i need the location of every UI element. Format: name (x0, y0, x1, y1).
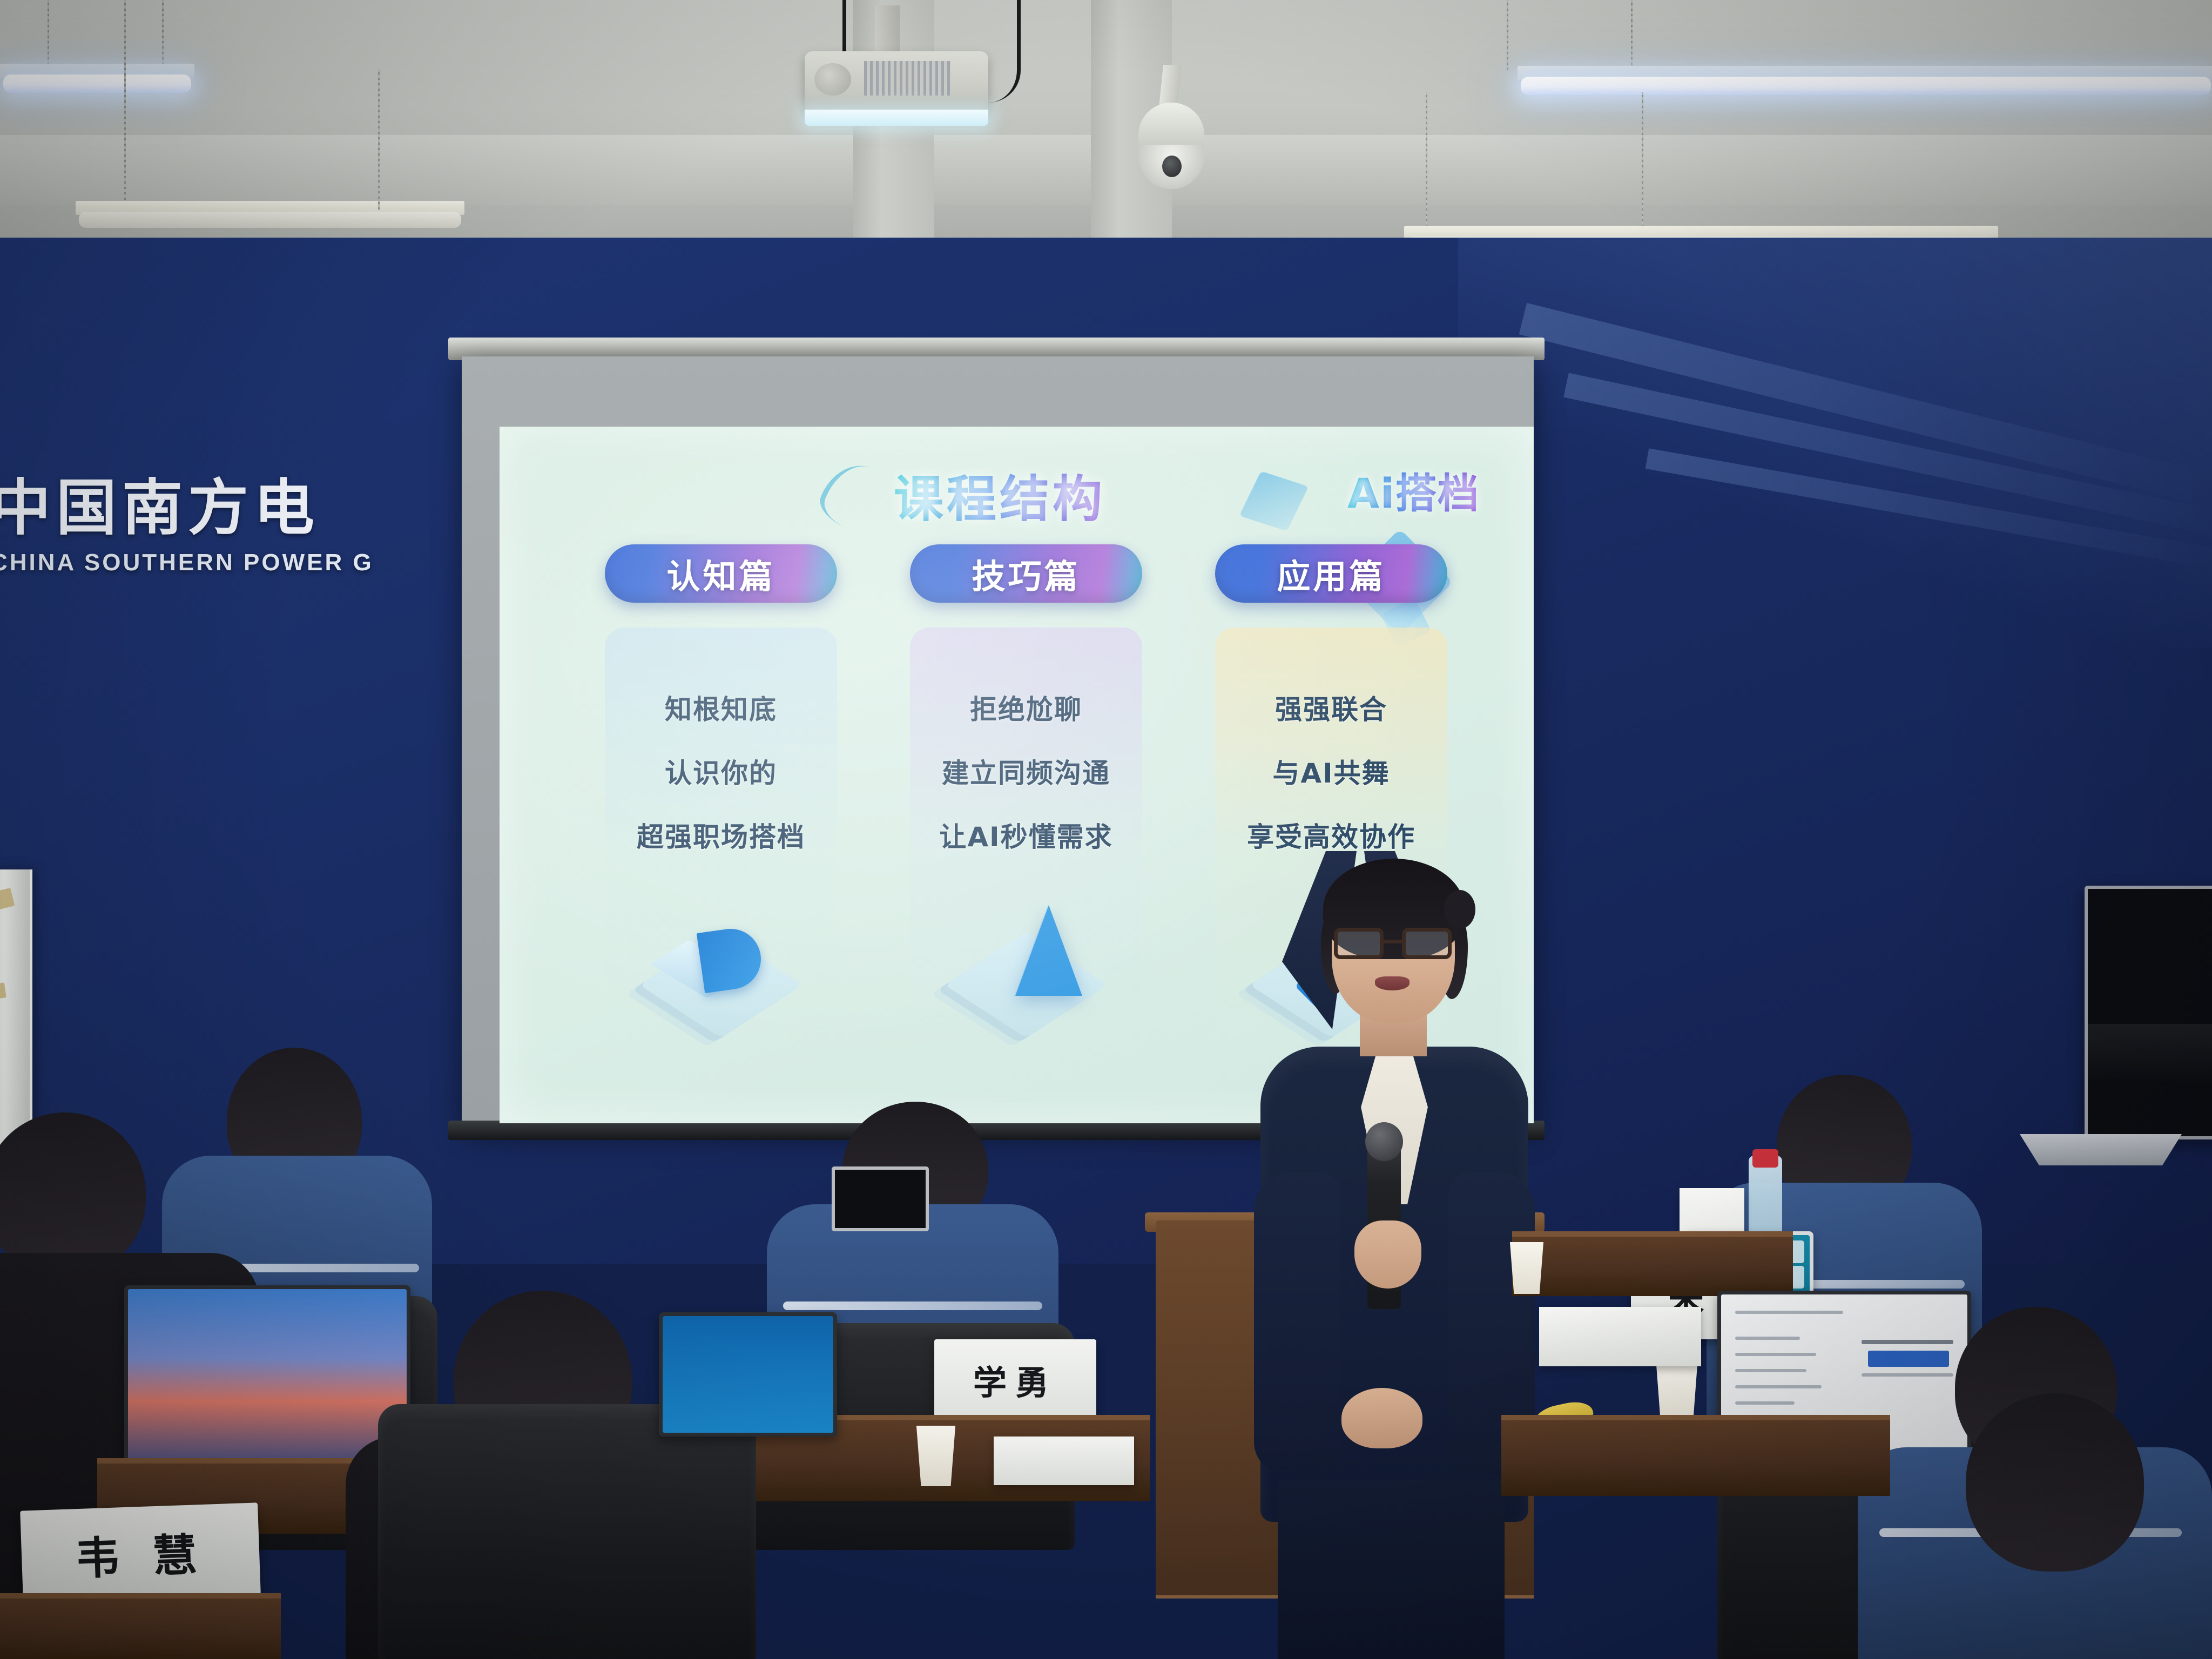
light-chain (124, 0, 126, 205)
tv-stand (2020, 1134, 2182, 1165)
card-line: 知根知底 (665, 688, 777, 727)
presenter-hair-bun (1444, 890, 1475, 929)
banner-chinese-text: 中国南方电 (0, 475, 476, 542)
desk (1512, 1231, 1793, 1296)
card-line: 让AI秒懂需求 (939, 815, 1112, 854)
laptop-screen[interactable] (663, 1316, 833, 1433)
card-line: 拒绝尬聊 (970, 688, 1082, 727)
ai-partner-logo: Ai搭档 (1347, 460, 1480, 520)
light-chain (1631, 0, 1633, 70)
card-line: 强强联合 (1275, 688, 1387, 727)
section-pill-skills: 技巧篇 (910, 544, 1142, 603)
light-chain (162, 0, 164, 65)
isometric-pyramid-icon (945, 906, 1107, 1041)
wall-banner: 中国南方电 CHINA SOUTHERN POWER G (0, 475, 476, 576)
presenter-hand (1341, 1388, 1422, 1448)
content-card-skills: 拒绝尬聊 建立同频沟通 让AI秒懂需求 (910, 628, 1142, 1054)
presenter-arm (1254, 1172, 1340, 1474)
banner-english-text: CHINA SOUTHERN POWER G (0, 549, 476, 576)
isometric-fan-disc-icon (640, 906, 802, 1041)
card-line: 超强职场搭档 (637, 815, 805, 854)
slide-column-cognition: 认知篇 知根知底 认识你的 超强职场搭档 (605, 544, 837, 1101)
section-pill-cognition: 认知篇 (605, 544, 837, 603)
laptop[interactable] (659, 1312, 837, 1437)
wall-mounted-tv[interactable] (2085, 886, 2212, 1139)
projector-beam (805, 110, 988, 126)
light-chain (48, 0, 49, 65)
desk (0, 1593, 281, 1659)
presenter-mouth (1375, 976, 1410, 990)
presenter (1226, 848, 1561, 1659)
person-head (1966, 1393, 2144, 1572)
section-pill-application: 应用篇 (1215, 544, 1447, 603)
slide-column-skills: 技巧篇 拒绝尬聊 建立同频沟通 让AI秒懂需求 (910, 544, 1142, 1101)
chair (378, 1404, 756, 1659)
title-swoosh-decoration (814, 455, 893, 537)
card-line: 建立同频沟通 (942, 752, 1110, 791)
name-plate: 学勇 (934, 1339, 1096, 1420)
small-monitor[interactable] (832, 1166, 929, 1231)
microphone-head-icon (1365, 1122, 1403, 1161)
classroom-scene: 中国南方电 CHINA SOUTHERN POWER G 课程结构 Ai搭档 认… (0, 0, 2212, 1659)
projector-lens-icon (814, 63, 851, 96)
document-stack (1539, 1307, 1701, 1366)
ceiling-projector (805, 51, 988, 116)
name-plate: 韦 慧 (20, 1502, 261, 1602)
desk (1501, 1415, 1890, 1496)
projector-vent (864, 61, 950, 96)
name-plate-text: 学勇 (973, 1355, 1057, 1404)
presenter-hand (1354, 1220, 1421, 1289)
document-stack (994, 1437, 1134, 1485)
slide-title: 课程结构 (894, 459, 1105, 531)
decorative-cube-icon (1239, 471, 1309, 531)
pill-label: 应用篇 (1277, 549, 1385, 598)
presenter-glasses-icon (1332, 928, 1455, 961)
card-line: 与AI共舞 (1272, 752, 1390, 791)
content-card-cognition: 知根知底 认识你的 超强职场搭档 (605, 628, 837, 1054)
name-plate-text: 韦 慧 (75, 1518, 207, 1587)
pill-label: 技巧篇 (972, 549, 1080, 598)
light-chain (1507, 0, 1508, 70)
presenter-trousers (1278, 1480, 1505, 1659)
laptop-screen[interactable] (128, 1289, 407, 1471)
camera-lens-icon (1162, 156, 1182, 177)
pill-label: 认知篇 (666, 549, 775, 598)
light-chain (378, 69, 380, 210)
bottle-cap (1752, 1149, 1778, 1168)
card-line: 认识你的 (665, 752, 777, 791)
